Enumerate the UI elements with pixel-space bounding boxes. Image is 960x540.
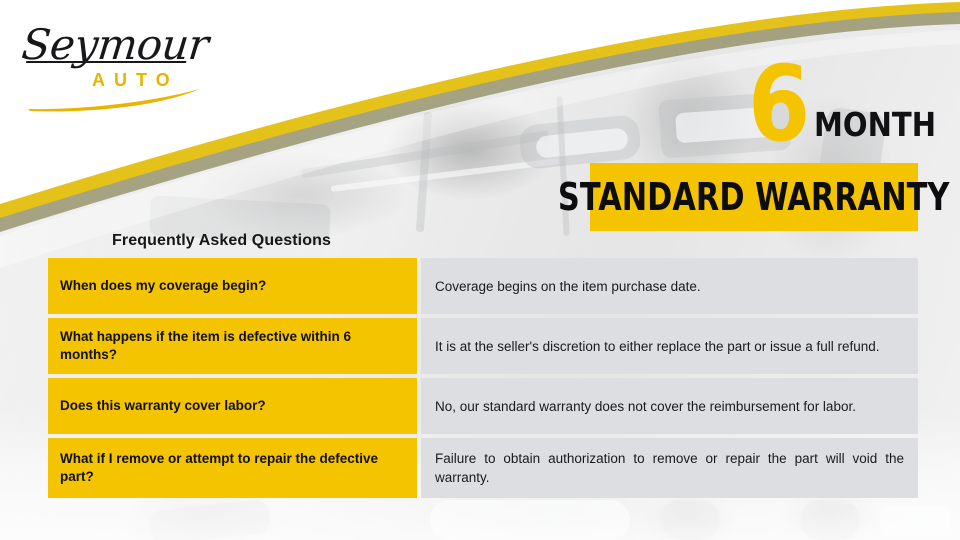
faq-question-cell: What if I remove or attempt to repair th… [48, 438, 417, 498]
standard-warranty-title: STANDARD WARRANTY [558, 178, 949, 216]
faq-answer-text: It is at the seller's discretion to eith… [435, 337, 904, 356]
faq-question-cell: What happens if the item is defective wi… [48, 318, 417, 374]
standard-warranty-banner: STANDARD WARRANTY [590, 163, 918, 231]
faq-question-text: What happens if the item is defective wi… [60, 328, 405, 364]
table-row: What happens if the item is defective wi… [48, 318, 918, 374]
logo-swoosh-icon [24, 86, 204, 112]
faq-answer-cell: No, our standard warranty does not cover… [421, 378, 918, 434]
faq-table: When does my coverage begin? Coverage be… [48, 258, 918, 498]
logo-script-text: Seymour [19, 20, 210, 69]
duration-number: 6 [748, 52, 809, 156]
duration-unit: MONTH [814, 108, 936, 141]
faq-heading: Frequently Asked Questions [112, 232, 331, 250]
warranty-duration-block: 6 MONTH [744, 60, 924, 160]
faq-question-cell: When does my coverage begin? [48, 258, 417, 314]
faq-answer-cell: Failure to obtain authorization to remov… [421, 438, 918, 498]
faq-question-cell: Does this warranty cover labor? [48, 378, 417, 434]
table-row: When does my coverage begin? Coverage be… [48, 258, 918, 314]
faq-answer-cell: Coverage begins on the item purchase dat… [421, 258, 918, 314]
faq-answer-text: Failure to obtain authorization to remov… [435, 449, 904, 487]
faq-answer-text: No, our standard warranty does not cover… [435, 397, 904, 416]
faq-question-text: When does my coverage begin? [60, 277, 266, 295]
faq-answer-text: Coverage begins on the item purchase dat… [435, 277, 904, 296]
warranty-faq-slide: Seymour AUTO 6 MONTH STANDARD WARRANTY F… [0, 0, 960, 540]
table-row: Does this warranty cover labor? No, our … [48, 378, 918, 434]
faq-question-text: Does this warranty cover labor? [60, 397, 266, 415]
table-row: What if I remove or attempt to repair th… [48, 438, 918, 498]
faq-answer-cell: It is at the seller's discretion to eith… [421, 318, 918, 374]
faq-question-text: What if I remove or attempt to repair th… [60, 450, 405, 486]
seymour-auto-logo: Seymour AUTO [14, 14, 204, 114]
